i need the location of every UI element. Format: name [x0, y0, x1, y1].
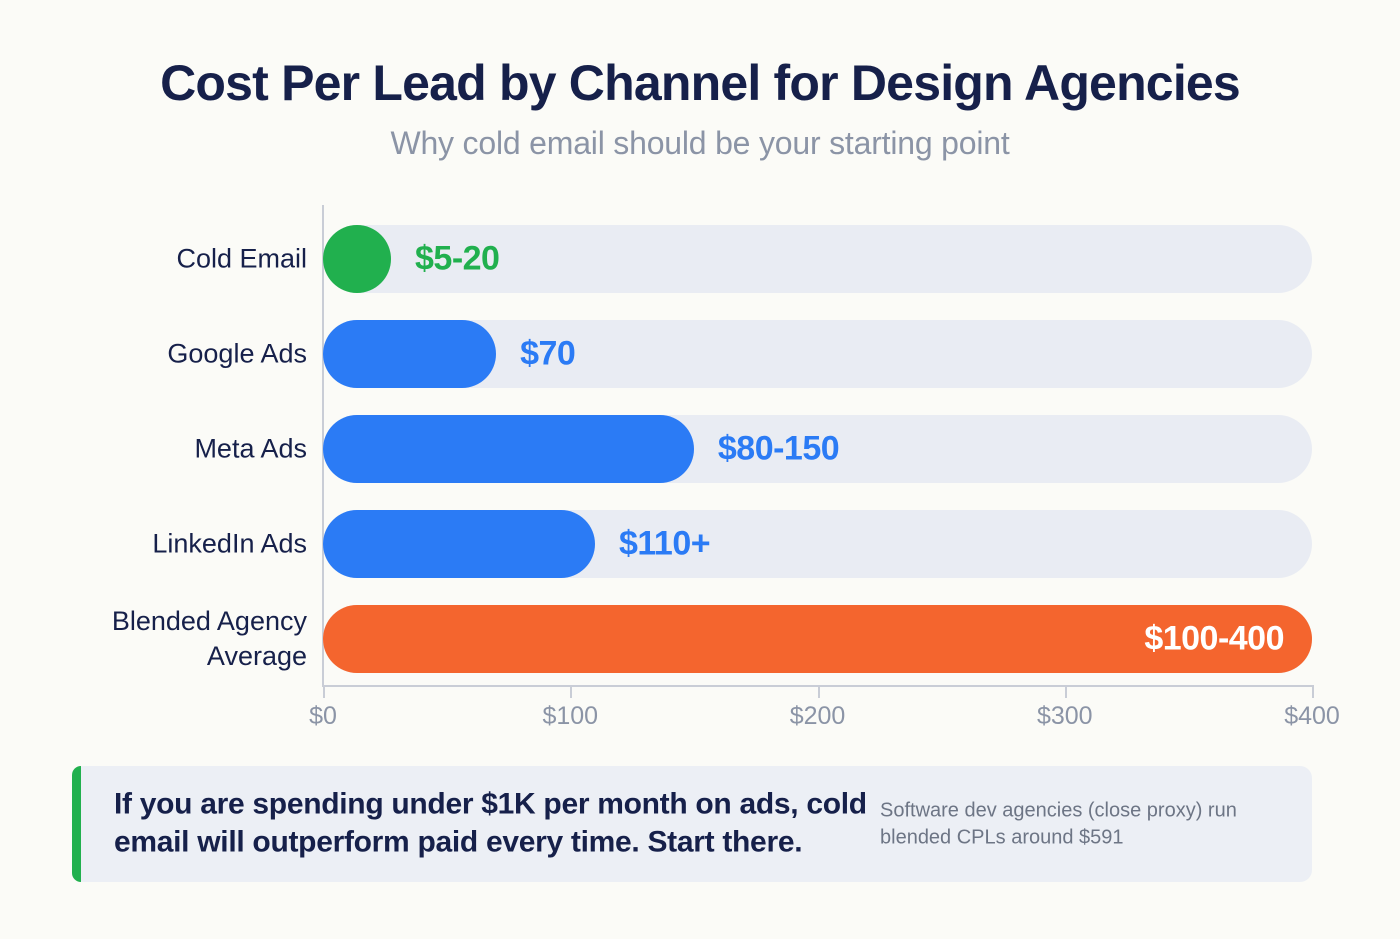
- page-title: Cost Per Lead by Channel for Design Agen…: [0, 56, 1400, 111]
- bar-category-label: Blended Agency Average: [112, 604, 307, 674]
- bar: [323, 415, 694, 483]
- x-axis-tick-label: $100: [542, 702, 598, 731]
- bar-value-label: $5-20: [415, 240, 499, 279]
- bar-value-label: $100-400: [1144, 620, 1284, 659]
- bar-category-label: Meta Ads: [194, 431, 307, 466]
- bar: [323, 510, 595, 578]
- chart-page: Cost Per Lead by Channel for Design Agen…: [0, 0, 1400, 939]
- x-axis-tick-label: $200: [790, 702, 846, 731]
- x-axis-tick: [1065, 685, 1067, 698]
- x-axis-tick-label: $0: [309, 702, 337, 731]
- x-axis-tick: [570, 685, 572, 698]
- x-axis-tick: [818, 685, 820, 698]
- bar-row: Google Ads$70: [0, 320, 1400, 388]
- bar: [323, 225, 391, 293]
- chart-header: Cost Per Lead by Channel for Design Agen…: [0, 56, 1400, 162]
- x-axis-tick-label: $300: [1037, 702, 1093, 731]
- bar-value-label: $110+: [619, 525, 710, 564]
- bar-value-label: $80-150: [718, 430, 839, 469]
- x-axis-tick-label: $400: [1284, 702, 1340, 731]
- page-subtitle: Why cold email should be your starting p…: [0, 125, 1400, 162]
- callout-note-text: Software dev agencies (close proxy) run …: [880, 797, 1280, 850]
- callout-box: If you are spending under $1K per month …: [72, 766, 1312, 882]
- bar-row: Meta Ads$80-150: [0, 415, 1400, 483]
- bar-category-label: Cold Email: [176, 241, 307, 276]
- bar-row: Cold Email$5-20: [0, 225, 1400, 293]
- bar-category-label: LinkedIn Ads: [152, 526, 307, 561]
- callout-main-text: If you are spending under $1K per month …: [114, 786, 914, 863]
- chart-plot-area: Cold Email$5-20Google Ads$70Meta Ads$80-…: [0, 205, 1400, 695]
- x-axis-tick: [1312, 685, 1314, 698]
- bar-row: Blended Agency Average$100-400: [0, 605, 1400, 673]
- bar: [323, 320, 496, 388]
- callout-accent-bar: [72, 766, 81, 882]
- bar-row: LinkedIn Ads$110+: [0, 510, 1400, 578]
- bar-value-label: $70: [520, 335, 575, 374]
- x-axis-tick: [323, 685, 325, 698]
- bar-category-label: Google Ads: [167, 336, 307, 371]
